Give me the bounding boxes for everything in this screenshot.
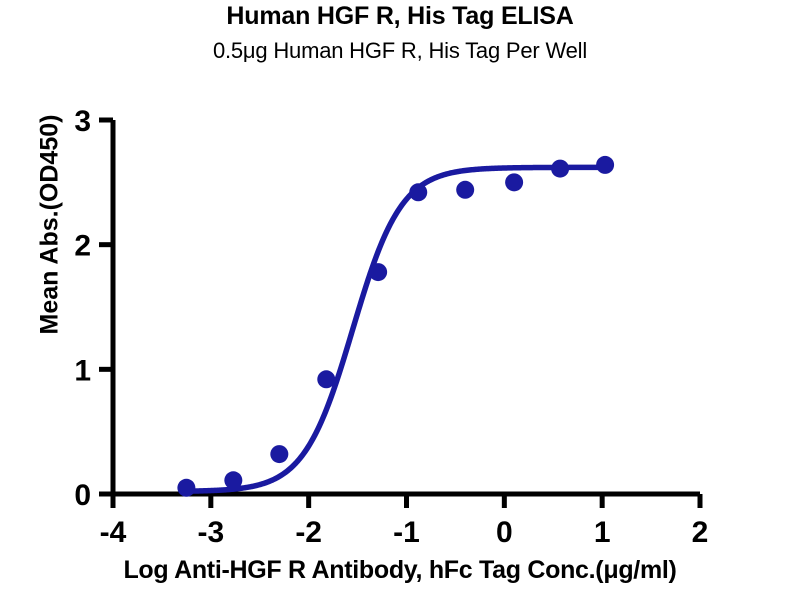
elisa-chart-figure: Human HGF R, His Tag ELISA 0.5μg Human H… [0,0,800,600]
data-points [177,156,614,497]
x-tick-label: -4 [100,516,127,549]
y-tick-label: 3 [74,105,91,138]
data-point [456,181,474,199]
fit-curve [181,167,608,491]
data-point [505,173,523,191]
data-point [596,156,614,174]
x-tick-label: 1 [594,516,611,549]
data-point [224,471,242,489]
data-point [177,479,195,497]
axis-lines [113,120,700,494]
data-point [369,263,387,281]
data-point [409,183,427,201]
x-tick-label: 2 [692,516,709,549]
x-axis-ticks: -4-3-2-1012 [100,494,709,549]
y-tick-label: 2 [74,230,91,263]
data-point [551,160,569,178]
data-point [270,445,288,463]
x-tick-label: -2 [295,516,322,549]
y-tick-label: 1 [74,354,91,387]
x-tick-label: -1 [393,516,420,549]
x-tick-label: -3 [197,516,224,549]
data-point [317,370,335,388]
x-tick-label: 0 [496,516,513,549]
y-tick-label: 0 [74,479,91,512]
y-axis-ticks: 0123 [74,105,113,512]
plot-area: -4-3-2-1012 0123 [0,0,800,600]
